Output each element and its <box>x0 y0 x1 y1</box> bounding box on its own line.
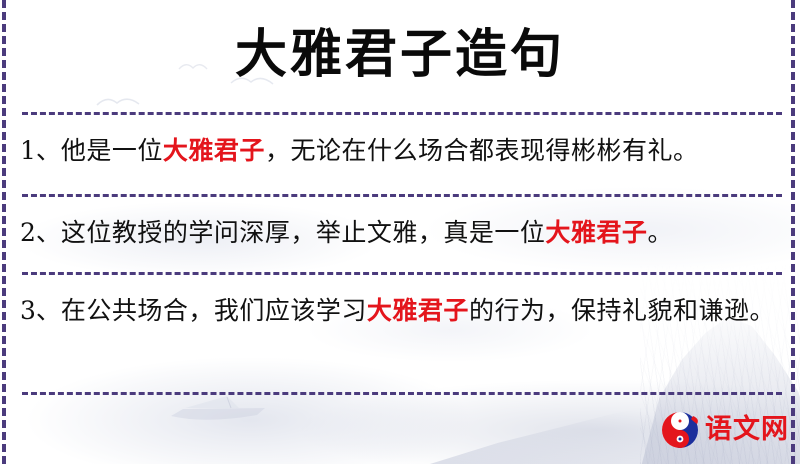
yin-yang-fish-circle-icon <box>660 410 700 450</box>
sentence-text: 这位教授的学问深厚，举止文雅，真是一位 <box>61 218 546 247</box>
site-watermark-text: 语文网 <box>705 415 789 445</box>
sentence-number: 2、 <box>20 218 61 247</box>
highlighted-keyword: 大雅君子 <box>545 218 647 247</box>
sentence-text: ，无论在什么场合都表现得彬彬有礼。 <box>265 136 699 165</box>
site-watermark-logo: 语文网 <box>660 410 789 450</box>
sentence-number: 1、 <box>20 136 61 165</box>
boat-watermark <box>165 394 285 424</box>
sentence-item: 2、这位教授的学问深厚，举止文雅，真是一位大雅君子。 <box>20 210 776 255</box>
sentence-text: 在公共场合，我们应该学习 <box>61 296 367 325</box>
separator-2 <box>22 194 782 197</box>
separator-4 <box>22 392 782 395</box>
sentence-number: 3、 <box>20 296 61 325</box>
separator-3 <box>22 272 782 275</box>
worksheet-page: 大雅君子造句 1、他是一位大雅君子，无论在什么场合都表现得彬彬有礼。 2、这位教… <box>0 0 800 464</box>
separator-1 <box>22 112 782 115</box>
page-title: 大雅君子造句 <box>0 22 800 88</box>
sentence-item: 1、他是一位大雅君子，无论在什么场合都表现得彬彬有礼。 <box>20 128 776 173</box>
sentence-text: 他是一位 <box>61 136 163 165</box>
sentence-item: 3、在公共场合，我们应该学习大雅君子的行为，保持礼貌和谦逊。 <box>20 288 776 333</box>
bird-watermark <box>95 93 141 109</box>
highlighted-keyword: 大雅君子 <box>163 136 265 165</box>
sentence-text: 。 <box>647 218 673 247</box>
sentence-text: 的行为，保持礼貌和谦逊。 <box>469 296 775 325</box>
highlighted-keyword: 大雅君子 <box>367 296 469 325</box>
